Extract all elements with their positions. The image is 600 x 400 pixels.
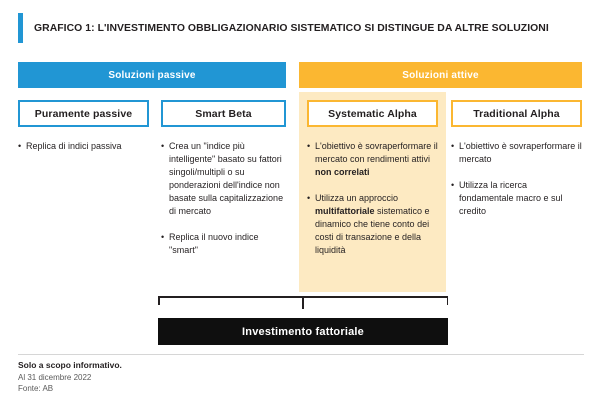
footer-divider [18, 354, 584, 355]
chart-figure: GRAFICO 1: L'INVESTIMENTO OBBLIGAZIONARI… [0, 0, 600, 400]
list-item: • Replica il nuovo indice "smart" [161, 231, 289, 257]
bullet-dot-icon: • [451, 140, 459, 166]
column-label-smart-beta: Smart Beta [195, 108, 251, 120]
list-item: • Replica di indici passiva [18, 140, 149, 153]
column-label-puramente-passive: Puramente passive [35, 108, 132, 120]
column-label-traditional-alpha: Traditional Alpha [473, 108, 559, 120]
category-header-passive: Soluzioni passive [18, 62, 286, 88]
bullet-text: Crea un "indice più intelligente" basato… [169, 140, 289, 218]
bullet-text: Utilizza la ricerca fondamentale macro e… [459, 179, 584, 218]
bullet-dot-icon: • [161, 140, 169, 218]
bullet-dot-icon: • [307, 140, 315, 179]
footer: Solo a scopo informativo. Al 31 dicembre… [18, 360, 438, 395]
list-item: • Crea un "indice più intelligente" basa… [161, 140, 289, 218]
page-title-text: GRAFICO 1: L'INVESTIMENTO OBBLIGAZIONARI… [34, 22, 549, 35]
list-item: • L'obiettivo è sovraperformare il merca… [307, 140, 442, 179]
footer-source: Fonte: AB [18, 383, 438, 395]
bullet-text: Replica di indici passiva [26, 140, 149, 153]
bracket-center-stem [302, 296, 304, 309]
page-title: GRAFICO 1: L'INVESTIMENTO OBBLIGAZIONARI… [18, 12, 584, 44]
summary-bar-label: Investimento fattoriale [242, 326, 364, 338]
bracket-connector [158, 296, 448, 308]
column-body-systematic-alpha: • L'obiettivo è sovraperformare il merca… [307, 140, 442, 270]
category-header-active: Soluzioni attive [299, 62, 582, 88]
column-box-puramente-passive: Puramente passive [18, 100, 149, 127]
category-header-active-label: Soluzioni attive [402, 70, 479, 81]
bullet-text: Replica il nuovo indice "smart" [169, 231, 289, 257]
bullet-text-pre: Utilizza un approccio [315, 193, 398, 203]
summary-bar-investimento-fattoriale: Investimento fattoriale [158, 318, 448, 345]
column-box-smart-beta: Smart Beta [161, 100, 286, 127]
bullet-text: L'obiettivo è sovraperformare il mercato… [315, 140, 442, 179]
bracket-left-tick [158, 296, 160, 305]
bullet-text: Utilizza un approccio multifattoriale si… [315, 192, 442, 257]
bullet-text-pre: L'obiettivo è sovraperformare il mercato… [315, 141, 438, 164]
bullet-dot-icon: • [161, 231, 169, 257]
bracket-right-tick [447, 296, 449, 305]
bullet-text-emphasis: non correlati [315, 167, 370, 177]
bullet-text-emphasis: multifattoriale [315, 206, 375, 216]
column-body-puramente-passive: • Replica di indici passiva [18, 140, 149, 166]
column-body-traditional-alpha: • L'obiettivo è sovraperformare il merca… [451, 140, 584, 231]
column-box-traditional-alpha: Traditional Alpha [451, 100, 582, 127]
column-body-smart-beta: • Crea un "indice più intelligente" basa… [161, 140, 289, 270]
bullet-dot-icon: • [307, 192, 315, 257]
list-item: • Utilizza la ricerca fondamentale macro… [451, 179, 584, 218]
title-accent-bar [18, 13, 23, 43]
category-header-passive-label: Soluzioni passive [108, 70, 195, 81]
list-item: • L'obiettivo è sovraperformare il merca… [451, 140, 584, 166]
bullet-dot-icon: • [18, 140, 26, 153]
footer-as-of-date: Al 31 dicembre 2022 [18, 372, 438, 384]
bullet-text: L'obiettivo è sovraperformare il mercato [459, 140, 584, 166]
bullet-dot-icon: • [451, 179, 459, 218]
column-box-systematic-alpha: Systematic Alpha [307, 100, 438, 127]
column-label-systematic-alpha: Systematic Alpha [328, 108, 417, 120]
list-item: • Utilizza un approccio multifattoriale … [307, 192, 442, 257]
footer-disclaimer: Solo a scopo informativo. [18, 360, 438, 372]
